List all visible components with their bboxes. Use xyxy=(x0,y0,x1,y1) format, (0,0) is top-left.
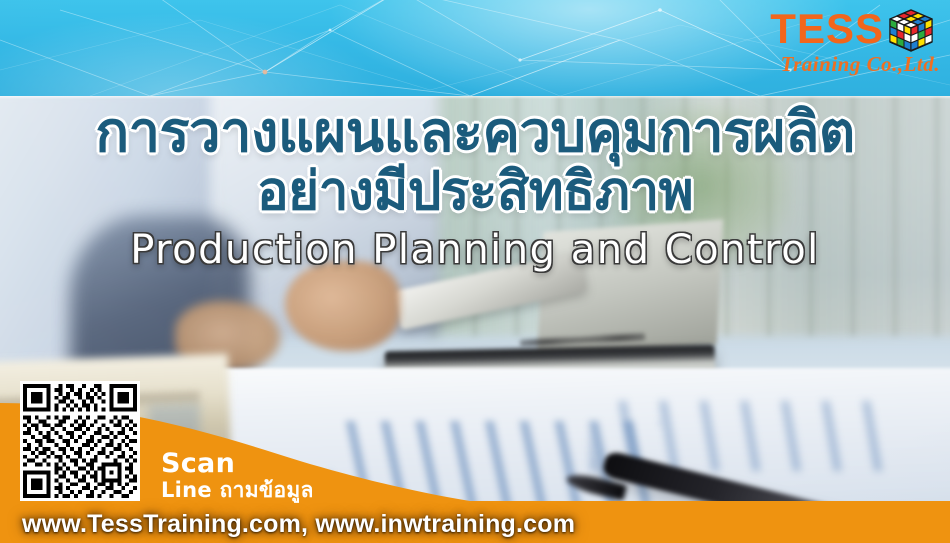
qr-code-graphic xyxy=(23,384,137,498)
course-banner: TESS xyxy=(0,0,950,543)
logo-wordmark: TESS xyxy=(770,8,884,50)
logo-tagline: Training Co.,Ltd. xyxy=(781,52,940,77)
tess-logo[interactable]: TESS xyxy=(782,4,942,84)
website-urls[interactable]: www.TessTraining.com, www.inwtraining.co… xyxy=(22,510,575,539)
background-seam xyxy=(0,96,950,99)
scan-line-block: Scan Line ถามข้อมูล xyxy=(161,450,314,501)
qr-code-icon[interactable] xyxy=(20,381,140,501)
line-contact-label: Line ถามข้อมูล xyxy=(161,480,314,501)
website-bar: www.TessTraining.com, www.inwtraining.co… xyxy=(0,505,950,543)
scan-label: Scan xyxy=(161,450,314,477)
